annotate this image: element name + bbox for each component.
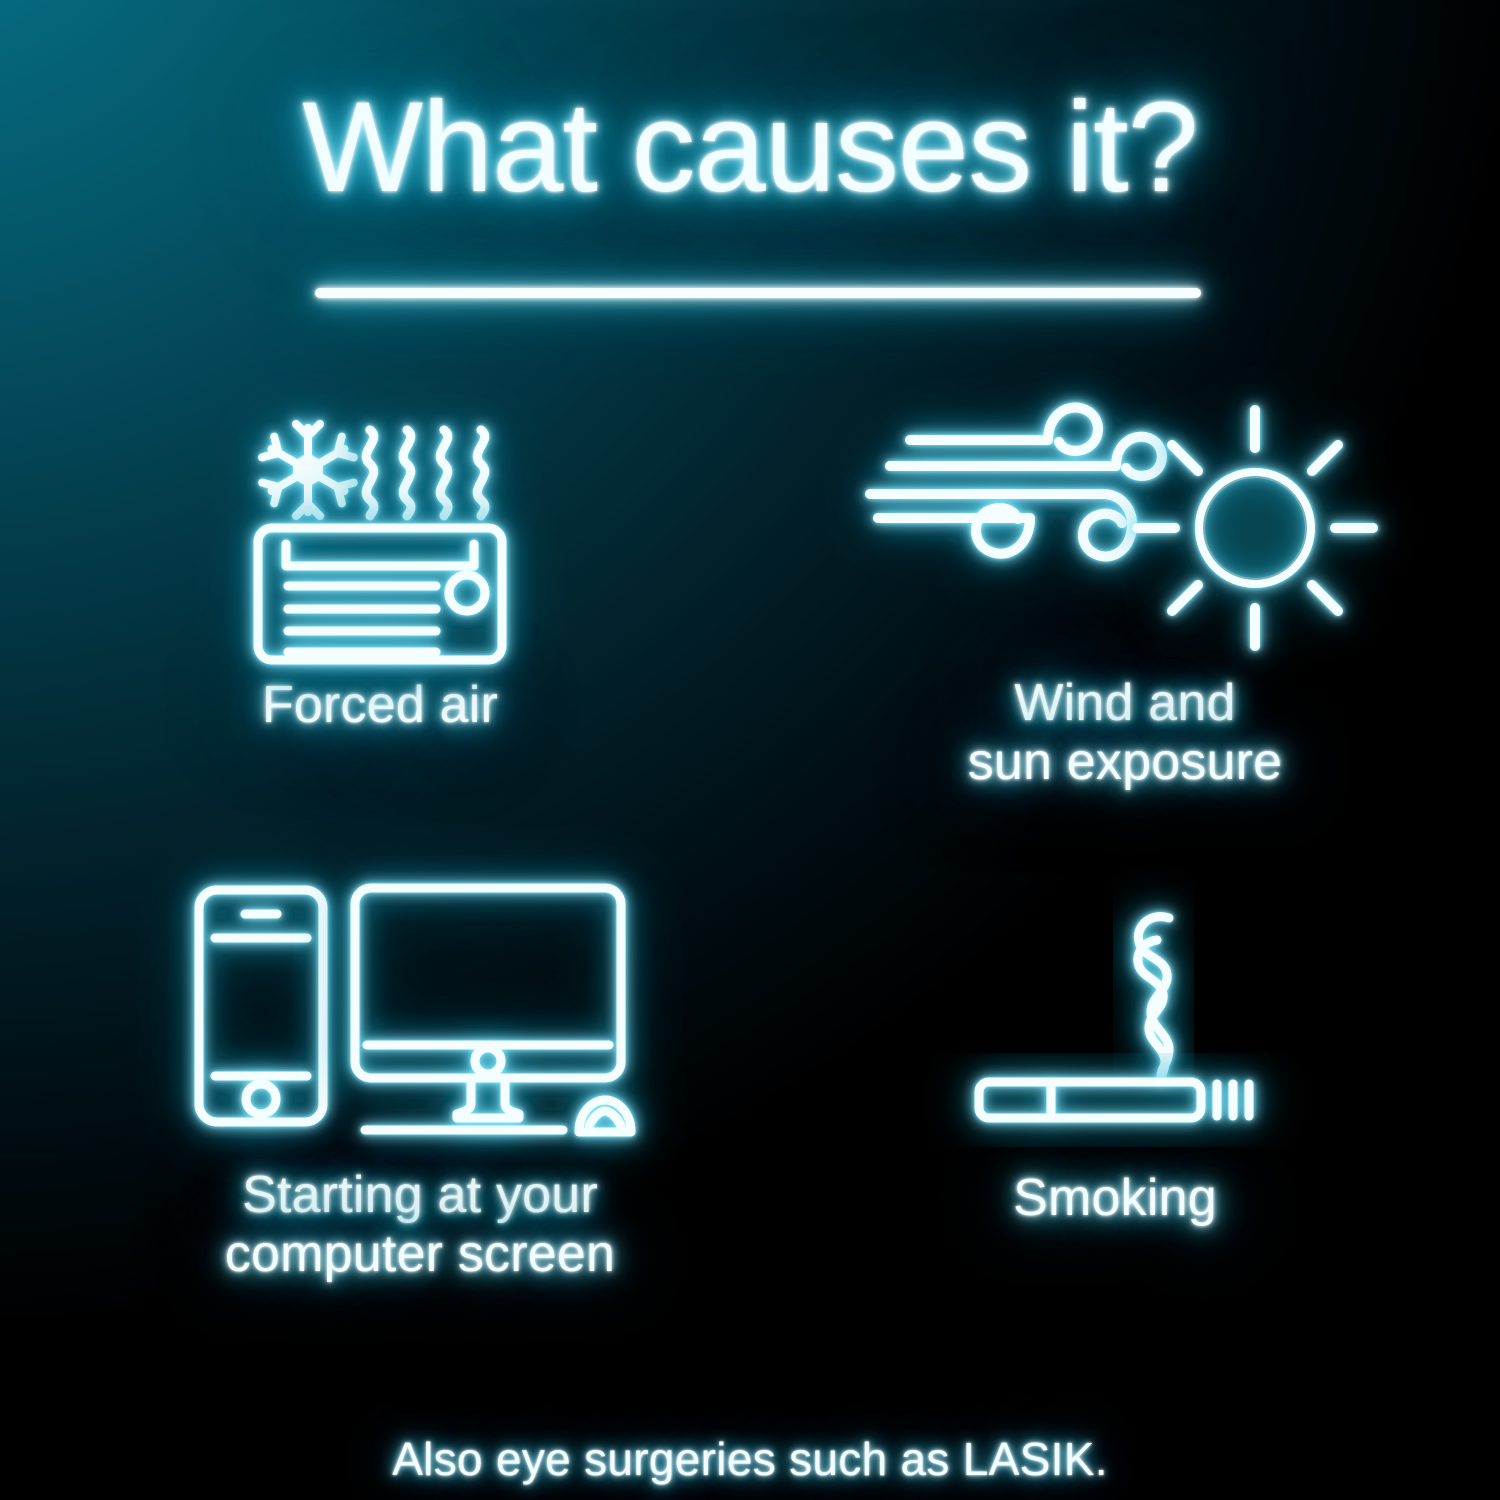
cause-icon-wrapper <box>140 418 620 670</box>
cigarette-icon <box>965 900 1265 1145</box>
cause-item-forced-air: Forced air <box>140 418 620 735</box>
title-divider <box>315 288 1201 298</box>
hvac-unit-icon <box>250 418 510 670</box>
phone-and-monitor-icon <box>185 880 655 1142</box>
cause-item-wind-sun: Wind and sun exposure <box>845 378 1405 793</box>
footnote-text: Also eye surgeries such as LASIK. <box>0 1432 1500 1486</box>
cause-label-computer-screen: Starting at your computer screen <box>110 1166 730 1285</box>
cause-icon-wrapper <box>110 880 730 1140</box>
divider-bar <box>315 288 1201 298</box>
infographic-poster: What causes it? <box>0 0 1500 1500</box>
cause-label-wind-sun: Wind and sun exposure <box>845 674 1405 793</box>
wind-and-sun-icon <box>870 378 1380 668</box>
page-title: What causes it? <box>0 84 1500 212</box>
cause-label-smoking: Smoking <box>905 1169 1325 1228</box>
cause-icon-wrapper <box>845 378 1405 668</box>
cause-item-computer-screen: Starting at your computer screen <box>110 880 730 1285</box>
cause-item-smoking: Smoking <box>905 900 1325 1228</box>
cause-icon-wrapper <box>905 900 1325 1145</box>
cause-label-forced-air: Forced air <box>140 676 620 735</box>
